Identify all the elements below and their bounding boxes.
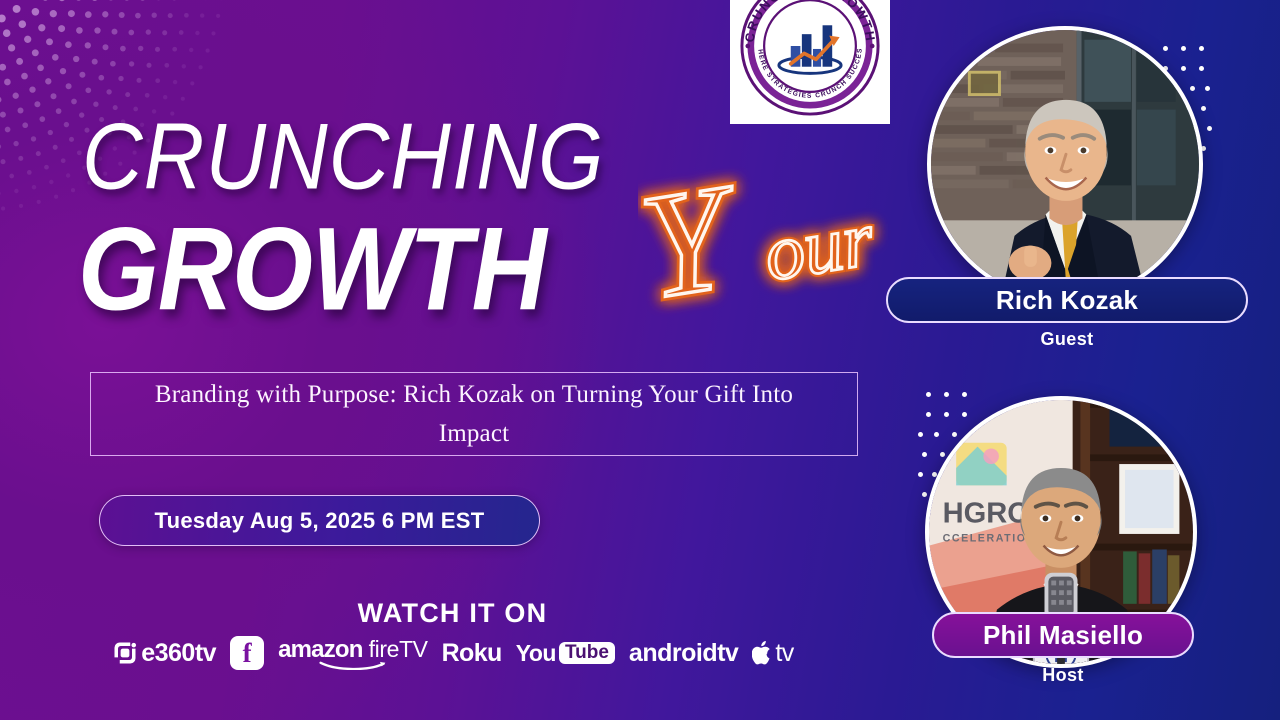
brand-logo-panel: CRUNCHING GROWTH WHERE STRATEGIES CRUNCH…: [730, 0, 890, 124]
title-line-crunching: CRUNCHING: [82, 108, 604, 204]
amazon-smile-icon: [315, 661, 391, 670]
firetv-label: fireTV: [369, 636, 428, 663]
platform-logo-facebook[interactable]: f: [230, 636, 264, 670]
title-line-growth: GROWTH: [78, 211, 546, 329]
youtube-tube-label: Tube: [559, 642, 615, 664]
platform-logo-android-tv[interactable]: androidtv: [629, 639, 738, 668]
e360tv-label: e360tv: [141, 639, 216, 668]
appletv-label: tv: [775, 639, 793, 668]
platform-logo-amazon-fire-tv[interactable]: amazon fireTV: [278, 636, 428, 670]
episode-title-box: Branding with Purpose: Rich Kozak on Tur…: [90, 372, 858, 456]
amazon-label: amazon: [278, 636, 363, 664]
e360tv-icon: [111, 639, 139, 667]
youtube-you-label: You: [516, 640, 556, 667]
episode-title-text: Branding with Purpose: Rich Kozak on Tur…: [119, 375, 829, 453]
speaker-name-guest: Rich Kozak: [996, 285, 1138, 316]
platform-logo-roku[interactable]: Roku: [442, 639, 502, 668]
svg-text:Y: Y: [638, 152, 753, 331]
avatar-rich-kozak: [927, 26, 1203, 302]
watch-it-on-label: WATCH IT ON: [0, 598, 905, 629]
androidtv-label: androidtv: [629, 639, 738, 668]
speaker-name-host: Phil Masiello: [983, 620, 1143, 651]
speaker-role-guest: Guest: [886, 329, 1248, 350]
platform-logo-youtube[interactable]: You Tube: [516, 640, 615, 667]
platform-logo-e360tv[interactable]: e360tv: [111, 639, 216, 668]
svg-text:our: our: [758, 194, 879, 297]
facebook-label: f: [243, 640, 252, 667]
air-date-text: Tuesday Aug 5, 2025 6 PM EST: [155, 508, 485, 534]
speaker-name-pill-host: Phil Masiello: [932, 612, 1194, 658]
promo-poster: CRUNCHING GROWTH WHERE STRATEGIES CRUNCH…: [0, 0, 1280, 720]
apple-icon: [752, 640, 774, 666]
speaker-role-host: Host: [932, 665, 1194, 686]
avatar-rich-kozak-photo: [931, 30, 1199, 298]
roku-label: Roku: [442, 639, 502, 668]
title-block: CRUNCHING GROWTH Y our Y our: [78, 108, 878, 328]
crunching-growth-logo: CRUNCHING GROWTH WHERE STRATEGIES CRUNCH…: [736, 0, 884, 120]
air-date-badge: Tuesday Aug 5, 2025 6 PM EST: [99, 495, 540, 546]
platform-logo-apple-tv[interactable]: tv: [752, 639, 793, 668]
speaker-name-pill-guest: Rich Kozak: [886, 277, 1248, 323]
platform-logos-row: e360tv f amazon fireTV Roku You Tube and…: [0, 636, 905, 670]
